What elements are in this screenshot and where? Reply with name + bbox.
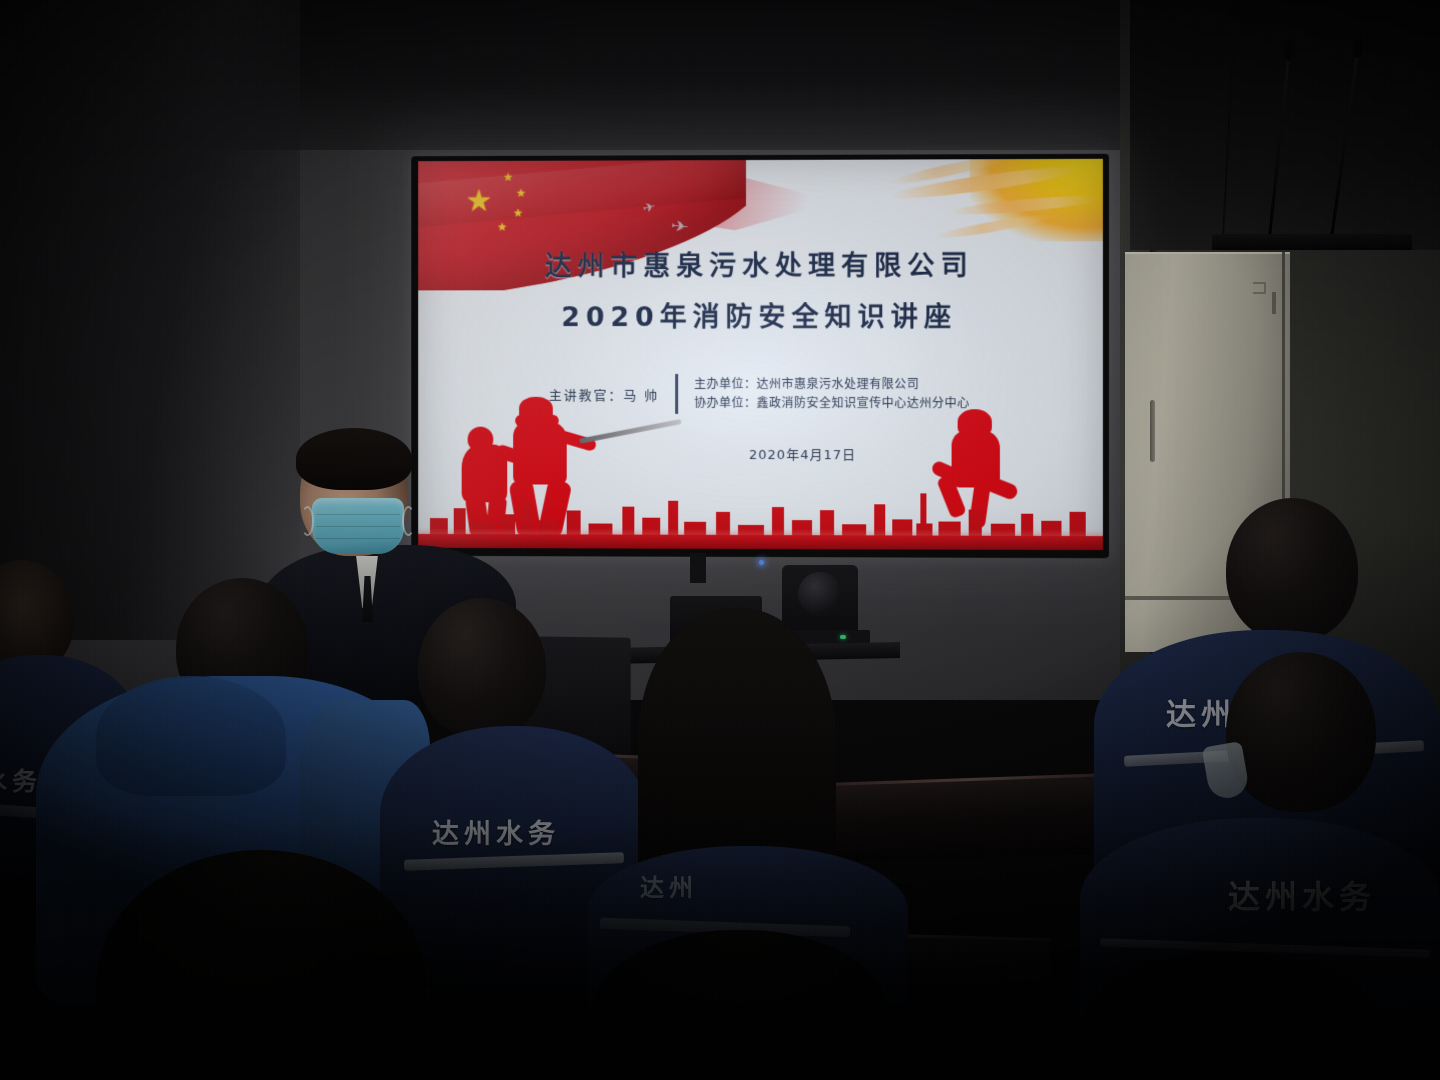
flag-star-small: ★ [513,209,523,220]
camera-status-led [840,635,846,639]
wall-mounted-display[interactable]: ★ ★ ★ ★ ★ ✈ ✈ 达州市惠泉污水处理有限公司 2020年消防安全知识讲… [411,154,1109,558]
display-mount [690,553,706,583]
cabinet-latch [1272,292,1276,314]
mask-ear-loop [402,506,415,536]
organizer-block: 主办单位：达州市惠泉污水处理有限公司 协办单位：鑫政消防安全知识宣传中心达州分中… [694,375,970,412]
ceiling-dark-area [1130,0,1440,250]
left-wall-shadow [0,0,300,640]
uniform-text: 达州 [640,868,698,903]
mask-fold [316,514,400,515]
host-organization: 主办单位：达州市惠泉污水处理有限公司 [694,375,970,394]
mask-fold [316,526,400,527]
meeting-room-scene: ★ ★ ★ ★ ★ ✈ ✈ 达州市惠泉污水处理有限公司 2020年消防安全知识讲… [0,0,1440,1080]
uniform-text: 达州水务 [432,812,560,851]
podium-surface [1212,234,1412,250]
attendee-head [418,598,546,738]
status-led-blue [759,560,764,565]
meta-divider [675,374,678,414]
mask-fold [316,538,400,539]
slide-title-block: 达州市惠泉污水处理有限公司 2020年消防安全知识讲座 [418,243,1103,334]
presentation-slide: ★ ★ ★ ★ ★ ✈ ✈ 达州市惠泉污水处理有限公司 2020年消防安全知识讲… [418,159,1103,550]
fire-hose [579,419,682,444]
attendee-head [1226,652,1376,812]
slide-title-line-2: 2020年消防安全知识讲座 [418,295,1103,334]
attendee-head [1226,498,1358,642]
flag-star-small: ★ [516,189,526,200]
uniform-text: 达州水务 [1228,872,1376,918]
cabinet-lock[interactable] [1253,282,1266,294]
flag-star-small: ★ [497,223,507,234]
presenter-hair [296,428,412,490]
flag-star-large: ★ [466,187,493,217]
peace-dove-icon: ✈ [670,217,690,236]
bench-row-right [820,773,1120,863]
mask-ear-loop [301,506,314,536]
cabinet-handle[interactable] [1150,400,1155,462]
city-skyline-silhouette [418,496,1103,550]
jacket-hood [96,676,286,796]
flag-star-small: ★ [503,173,513,184]
camera-lens [798,572,842,616]
slide-title-line-1: 达州市惠泉污水处理有限公司 [418,243,1103,283]
